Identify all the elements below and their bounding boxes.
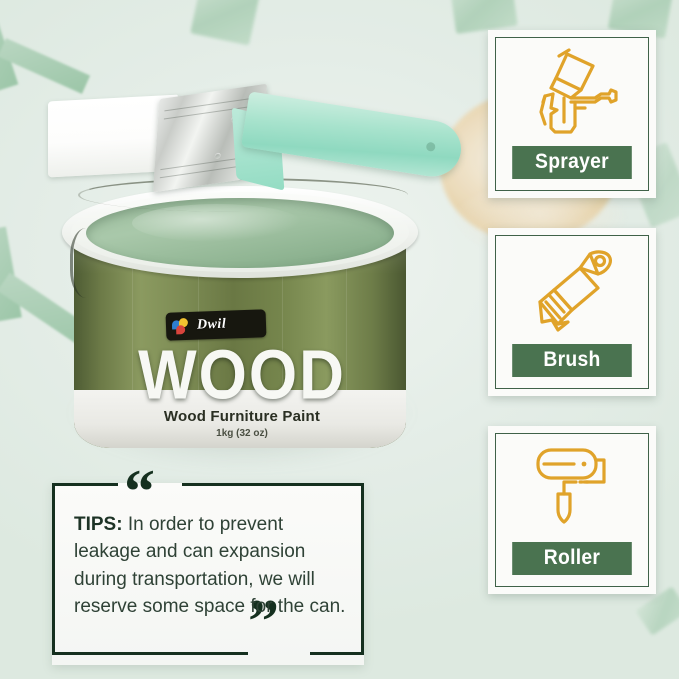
card-label-roller: Roller	[512, 542, 632, 575]
card-inner: Sprayer	[495, 37, 649, 191]
brand-logo-text: Dwil	[197, 317, 227, 334]
paint-roller-icon	[496, 434, 648, 542]
paintbrush-photo	[48, 84, 458, 229]
tips-text: TIPS: In order to prevent leakage and ca…	[74, 511, 348, 620]
spray-gun-icon	[496, 38, 648, 146]
feature-card-sprayer[interactable]: Sprayer	[488, 30, 656, 198]
card-inner: Roller	[495, 433, 649, 587]
tips-callout: “ ” TIPS: In order to prevent leakage an…	[52, 473, 364, 665]
card-label-brush: Brush	[512, 344, 632, 377]
can-handle	[70, 228, 110, 298]
product-infographic: Dwil WOOD Wood Furniture Paint 1kg (32 o…	[0, 0, 679, 679]
feature-card-roller[interactable]: Roller	[488, 426, 656, 594]
card-label-sprayer: Sprayer	[512, 146, 632, 179]
product-size: 1kg (32 oz)	[62, 428, 422, 439]
product-title: WOOD	[62, 336, 422, 416]
card-inner: Brush	[495, 235, 649, 389]
feature-card-brush[interactable]: Brush	[488, 228, 656, 396]
tips-label: TIPS:	[74, 514, 123, 535]
paint-brush-icon	[496, 236, 648, 344]
logo-swatches-icon	[172, 318, 195, 335]
product-subtitle: Wood Furniture Paint	[62, 408, 422, 425]
